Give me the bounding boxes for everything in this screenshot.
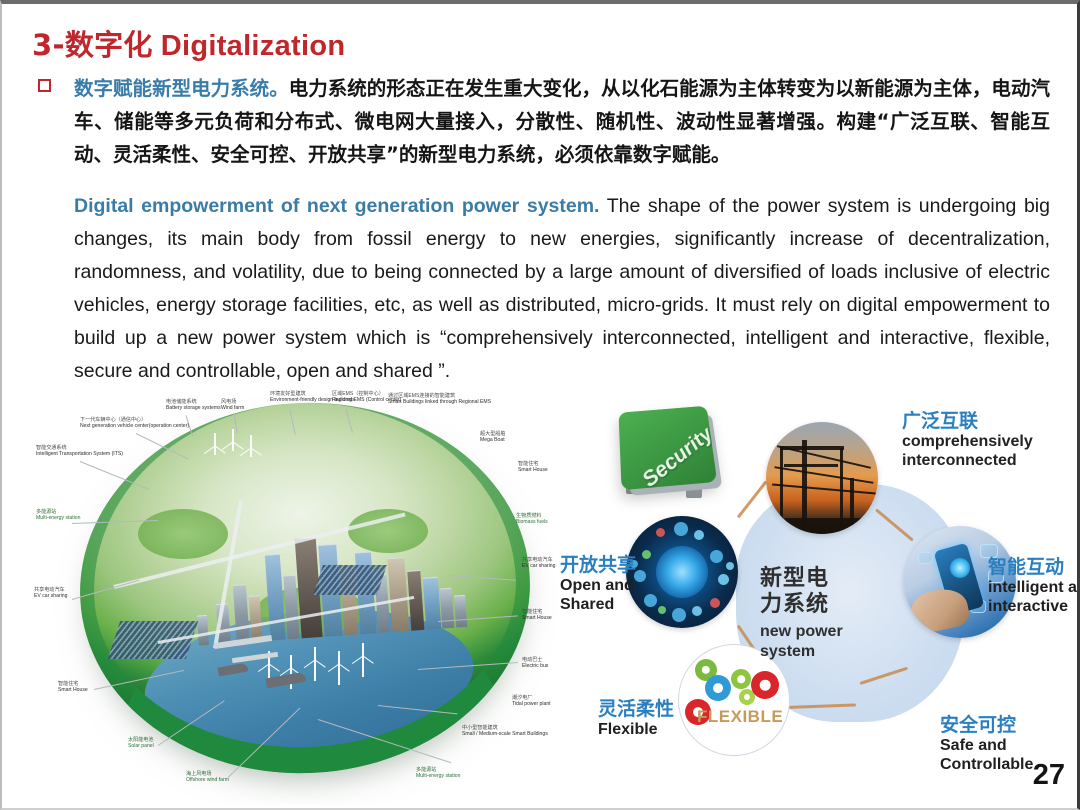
- city-annotation-en: Biomass fuels: [516, 519, 548, 525]
- label-en-secure-line1: Safe and: [940, 736, 1068, 755]
- english-body-sentence: The shape of the power system is undergo…: [74, 195, 1050, 382]
- city-annotation-en: Smart House: [58, 687, 88, 693]
- solar-panel-field: [313, 565, 387, 595]
- gear-icon-red: [751, 671, 779, 699]
- label-flexible: 灵活柔性 Flexible: [598, 698, 674, 739]
- city-annotation: 海上风电场Offshore wind farm: [186, 771, 229, 783]
- city-annotation: 共享电动汽车EV car sharing: [34, 587, 67, 599]
- page-title-cn: 3-数字化: [32, 28, 153, 62]
- city-annotation: 智能住宅Smart House: [522, 609, 552, 621]
- city-annotation-en: Smart Buildings linked through Regional …: [388, 399, 491, 405]
- wind-turbine-icon: [314, 647, 316, 681]
- label-en-intelligent-line1: intelligent and: [988, 578, 1080, 597]
- label-cn-secure: 安全可控: [940, 714, 1068, 736]
- city-annotation-en: EV car sharing: [34, 593, 67, 599]
- bullet-block: 数字赋能新型电力系统。电力系统的形态正在发生重大变化，从以化石能源为主体转变为以…: [38, 72, 1050, 171]
- page-title: 3-数字化Digitalization: [32, 22, 345, 64]
- city-annotation: 多能源站Multi-energy station: [416, 767, 460, 779]
- city-annotation: 通过区域EMS连接的智能建筑Smart Buildings linked thr…: [388, 393, 491, 405]
- city-annotation: 智能住宅Smart House: [518, 461, 548, 473]
- blue-network-sphere-icon: [656, 546, 708, 598]
- node-comprehensively-interconnected[interactable]: [766, 422, 878, 534]
- chinese-lead-sentence: 数字赋能新型电力系统。: [74, 77, 289, 100]
- power-substation-silhouette: [850, 478, 854, 526]
- label-en-open-line2: Shared: [560, 595, 636, 614]
- city-annotation: 电池储能系统Battery storage systems: [166, 399, 221, 411]
- city-annotation: 智能住宅Smart House: [58, 681, 88, 693]
- city-annotation: 太阳能电池Solar panel: [128, 737, 154, 749]
- label-en-interconnected-line1: comprehensively: [902, 432, 1042, 451]
- city-annotation: 潮汐电厂Tidal power plant: [512, 695, 551, 707]
- city-annotation-en: Electric bus: [522, 663, 548, 669]
- square-outline-bullet-icon: [38, 79, 51, 92]
- label-cn-intelligent: 智能互动: [988, 556, 1080, 578]
- city-annotation-en: Solar panel: [128, 743, 154, 749]
- wind-turbine-icon: [362, 643, 364, 677]
- security-word-label: Security: [638, 423, 718, 493]
- label-cn-flexible: 灵活柔性: [598, 698, 674, 720]
- label-en-interconnected-line2: interconnected: [902, 451, 1042, 470]
- new-power-system-diagram: FLEXIBLE Security 新型电 力系统 new power syst…: [608, 396, 1080, 810]
- city-annotation: 智能交通系统Intelligent Transportation System …: [36, 445, 123, 457]
- node-open-and-shared[interactable]: [626, 516, 738, 628]
- hub-title-cn: 新型电 力系统: [760, 566, 829, 618]
- page-number: 27: [1033, 759, 1065, 792]
- city-annotation-en: Smart House: [518, 467, 548, 473]
- city-annotation: 电动巴士Electric bus: [522, 657, 548, 669]
- city-annotation-en: Smart House: [522, 615, 552, 621]
- smart-city-illustration: 下一代车辆中心（通信中心）Next generation vehicle cen…: [18, 389, 608, 804]
- gear-icon-blue: [705, 675, 731, 701]
- hub-title-en-line1: new power: [760, 623, 843, 640]
- wind-turbine-icon: [338, 651, 340, 685]
- city-annotation: 下一代车辆中心（通信中心）Next generation vehicle cen…: [80, 417, 189, 429]
- city-annotation-en: Multi-energy station: [416, 773, 460, 779]
- city-annotation: 多能源站Multi-energy station: [36, 509, 80, 521]
- city-annotation: 中小型智能建筑Small / Medium-scale Smart Buildi…: [462, 725, 548, 737]
- node-safe-and-controllable[interactable]: Security: [608, 396, 726, 504]
- label-cn-interconnected: 广泛互联: [902, 410, 1042, 432]
- solar-panel-field: [108, 621, 198, 659]
- city-annotation-en: Next generation vehicle center(operation…: [80, 423, 189, 429]
- hub-title-cn-line1: 新型电: [760, 566, 829, 591]
- city-annotation-en: Battery storage systems: [166, 405, 221, 411]
- key-leg: [686, 482, 702, 498]
- label-en-intelligent-line2: interactive: [988, 597, 1080, 616]
- english-paragraph: Digital empowerment of next generation p…: [74, 190, 1050, 388]
- label-en-open-line1: Open and: [560, 576, 636, 595]
- english-lead-sentence: Digital empowerment of next generation p…: [74, 195, 599, 217]
- label-open-and-shared: 开放共享 Open and Shared: [560, 554, 636, 614]
- green-security-key-icon: Security: [618, 406, 717, 490]
- city-annotation-en: Small / Medium-scale Smart Buildings: [462, 731, 548, 737]
- city-annotation-en: Tidal power plant: [512, 701, 551, 707]
- wind-turbine-icon: [214, 433, 216, 455]
- city-annotation-en: Mega Boat: [480, 437, 505, 443]
- label-en-flexible-line1: Flexible: [598, 720, 674, 739]
- chinese-paragraph: 数字赋能新型电力系统。电力系统的形态正在发生重大变化，从以化石能源为主体转变为以…: [74, 72, 1050, 171]
- power-substation-silhouette: [766, 518, 878, 534]
- power-line-wire: [772, 483, 876, 494]
- flexible-word-label: FLEXIBLE: [697, 707, 783, 727]
- city-annotation-en: Offshore wind farm: [186, 777, 229, 783]
- hub-title-en-line2: system: [760, 643, 815, 660]
- label-cn-open: 开放共享: [560, 554, 636, 576]
- city-annotation: 生物质燃料Biomass fuels: [516, 513, 548, 525]
- city-annotation: 超大型船舶Mega Boat: [480, 431, 505, 443]
- hub-title-en: new power system: [760, 622, 843, 662]
- city-annotation: 风电场Wind farm: [221, 399, 244, 411]
- power-line-wire: [774, 466, 873, 483]
- city-annotation-en: EV car sharing: [522, 563, 555, 569]
- wind-turbine-icon: [250, 435, 252, 457]
- label-intelligent-and-interactive: 智能互动 intelligent and interactive: [988, 556, 1080, 616]
- gear-icon-green-small: [731, 669, 751, 689]
- wind-turbine-icon: [232, 429, 234, 451]
- ui-bubble-icon: [918, 552, 933, 564]
- power-pylon-strut: [780, 448, 783, 526]
- label-comprehensively-interconnected: 广泛互联 comprehensively interconnected: [902, 410, 1042, 470]
- city-annotation-en: Intelligent Transportation System (ITS): [36, 451, 123, 457]
- page-title-en: Digitalization: [161, 30, 346, 62]
- slide-canvas: 3-数字化Digitalization 数字赋能新型电力系统。电力系统的形态正在…: [0, 0, 1080, 810]
- hub-title-cn-line2: 力系统: [760, 592, 829, 617]
- power-pylon-crossarm: [784, 464, 838, 467]
- city-annotation-en: Multi-energy station: [36, 515, 80, 521]
- city-annotation: 共享电动汽车EV car sharing: [522, 557, 555, 569]
- city-annotation-en: Wind farm: [221, 405, 244, 411]
